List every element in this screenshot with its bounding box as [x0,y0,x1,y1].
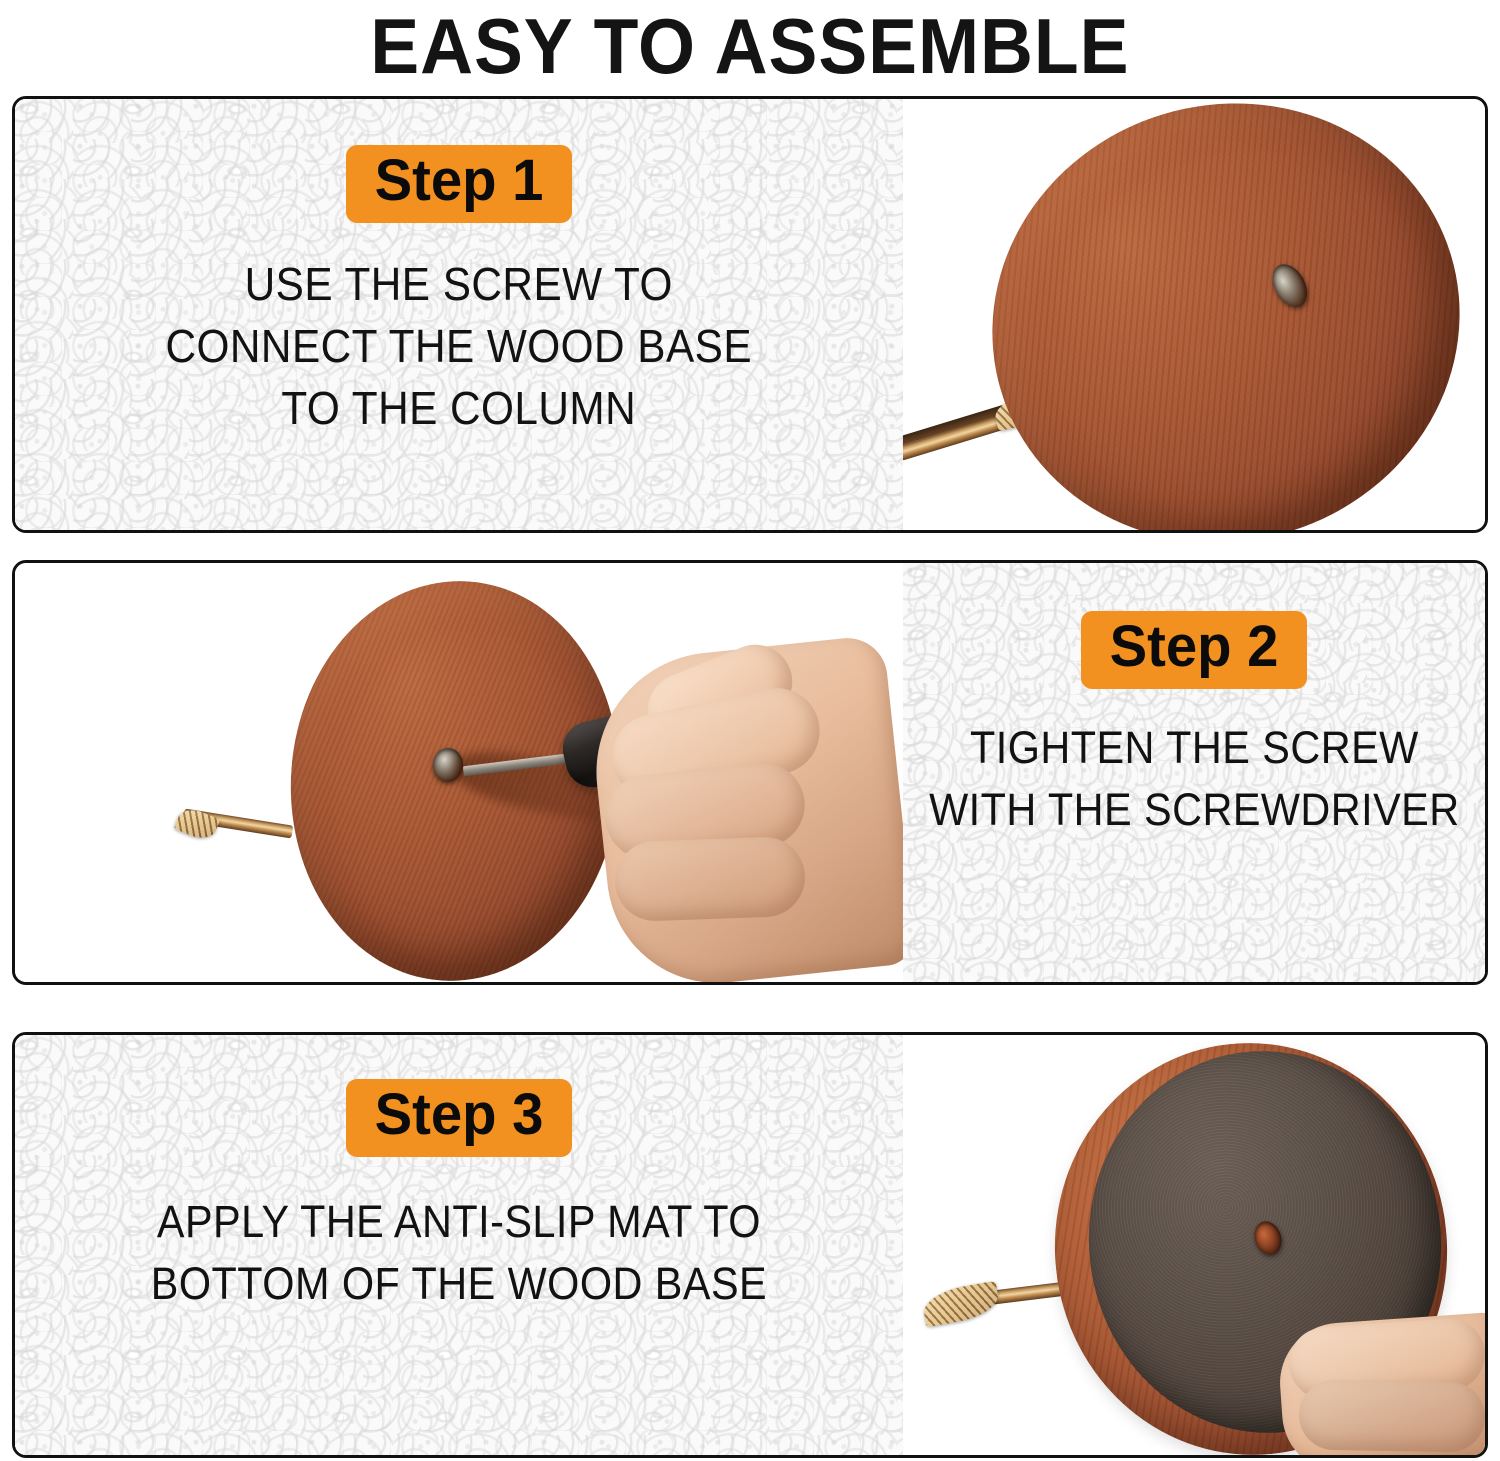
step-1-badge: Step 1 [346,145,572,223]
step-3-caption: APPLY THE ANTI-SLIP MAT TO BOTTOM OF THE… [151,1191,767,1315]
page-header: EASY TO ASSEMBLE [0,0,1500,92]
brass-leaf-ornament-icon [174,804,221,843]
brass-leaf-ornament-icon [921,1281,1002,1328]
step-panel-2: Step 2 TIGHTEN THE SCREW WITH THE SCREWD… [12,560,1488,985]
finger-ring [614,836,807,923]
step-3-badge: Step 3 [346,1079,572,1157]
step-panel-3: Step 3 APPLY THE ANTI-SLIP MAT TO BOTTOM… [12,1032,1488,1458]
step-2-badge: Step 2 [1081,611,1307,689]
step-2-caption: TIGHTEN THE SCREW WITH THE SCREWDRIVER [929,717,1460,841]
step-2-badge-label: Step 2 [1110,616,1279,678]
step-2-text-area: Step 2 TIGHTEN THE SCREW WITH THE SCREWD… [903,563,1485,982]
wood-base-disc [938,99,1485,530]
step-1-text-area: Step 1 USE THE SCREW TO CONNECT THE WOOD… [15,99,903,530]
step-1-photo [903,99,1485,530]
assembly-instructions-page: EASY TO ASSEMBLE Step 1 USE THE SCREW TO… [0,0,1500,1461]
step-3-text-area: Step 3 APPLY THE ANTI-SLIP MAT TO BOTTOM… [15,1035,903,1455]
step-1-badge-label: Step 1 [375,150,544,212]
step-3-photo [903,1035,1485,1455]
step-1-caption: USE THE SCREW TO CONNECT THE WOOD BASE T… [166,253,753,439]
step-3-badge-label: Step 3 [375,1084,544,1146]
step-2-photo [15,563,903,982]
page-title: EASY TO ASSEMBLE [370,7,1129,85]
finger-middle [1298,1379,1485,1452]
step-panel-1: Step 1 USE THE SCREW TO CONNECT THE WOOD… [12,96,1488,533]
screw-hole-icon [1266,258,1315,313]
